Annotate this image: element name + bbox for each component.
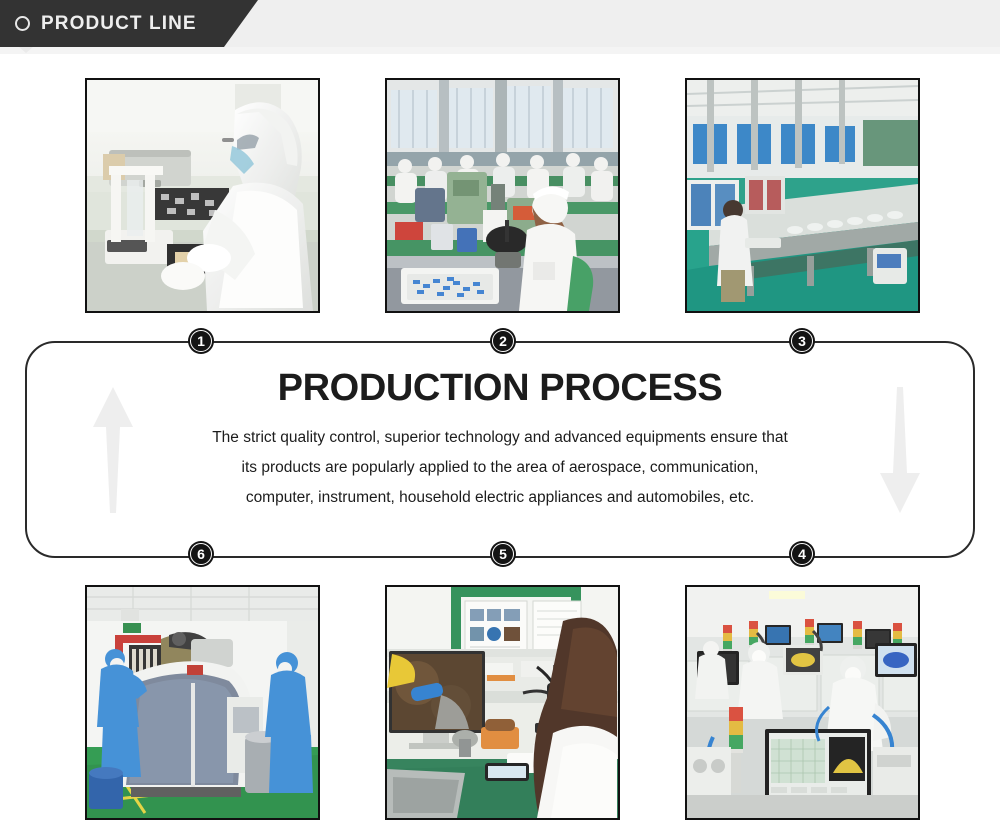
step-badge-6-ring: 6 xyxy=(190,543,212,565)
product-line-tab[interactable]: PRODUCT LINE xyxy=(0,0,258,47)
production-process-box: PRODUCTION PROCESS The strict quality co… xyxy=(25,341,975,558)
photo-step-2-image xyxy=(387,80,618,311)
arrow-down-icon xyxy=(878,385,922,520)
photo-step-3-image xyxy=(687,80,918,311)
step-badge-6: 6 xyxy=(188,541,214,567)
step-badge-4: 4 xyxy=(789,541,815,567)
photo-step-1-image xyxy=(87,80,318,311)
header-underbar xyxy=(0,47,1000,54)
step-badge-1-number: 1 xyxy=(197,334,205,348)
step-badge-1-ring: 1 xyxy=(190,330,212,352)
step-badge-2: 2 xyxy=(490,328,516,354)
ring-icon xyxy=(15,16,30,31)
step-badge-3-number: 3 xyxy=(798,334,806,348)
step-badge-4-number: 4 xyxy=(798,547,806,561)
step-badge-2-ring: 2 xyxy=(492,330,514,352)
photo-step-6[interactable] xyxy=(85,585,320,820)
step-badge-3: 3 xyxy=(789,328,815,354)
step-badge-6-number: 6 xyxy=(197,547,205,561)
header-bar: PRODUCT LINE xyxy=(0,0,1000,47)
step-badge-1: 1 xyxy=(188,328,214,354)
photo-step-4-image xyxy=(687,587,918,818)
step-badge-5-number: 5 xyxy=(499,547,507,561)
process-description-line-1: The strict quality control, superior tec… xyxy=(157,423,843,453)
process-title: PRODUCTION PROCESS xyxy=(27,367,973,410)
arrow-up-icon xyxy=(91,385,135,520)
photo-step-4[interactable] xyxy=(685,585,920,820)
photo-step-5-image xyxy=(387,587,618,818)
process-description: The strict quality control, superior tec… xyxy=(157,423,843,513)
process-description-line-3: computer, instrument, household electric… xyxy=(157,483,843,513)
photo-step-1[interactable] xyxy=(85,78,320,313)
photo-step-2[interactable] xyxy=(385,78,620,313)
photo-step-3[interactable] xyxy=(685,78,920,313)
step-badge-2-number: 2 xyxy=(499,334,507,348)
step-badge-3-ring: 3 xyxy=(791,330,813,352)
step-badge-5: 5 xyxy=(490,541,516,567)
page-title: PRODUCT LINE xyxy=(41,13,197,35)
step-badge-5-ring: 5 xyxy=(492,543,514,565)
photo-step-5[interactable] xyxy=(385,585,620,820)
step-badge-4-ring: 4 xyxy=(791,543,813,565)
photo-step-6-image xyxy=(87,587,318,818)
header-notch-icon xyxy=(19,47,33,53)
process-description-line-2: its products are popularly applied to th… xyxy=(157,453,843,483)
